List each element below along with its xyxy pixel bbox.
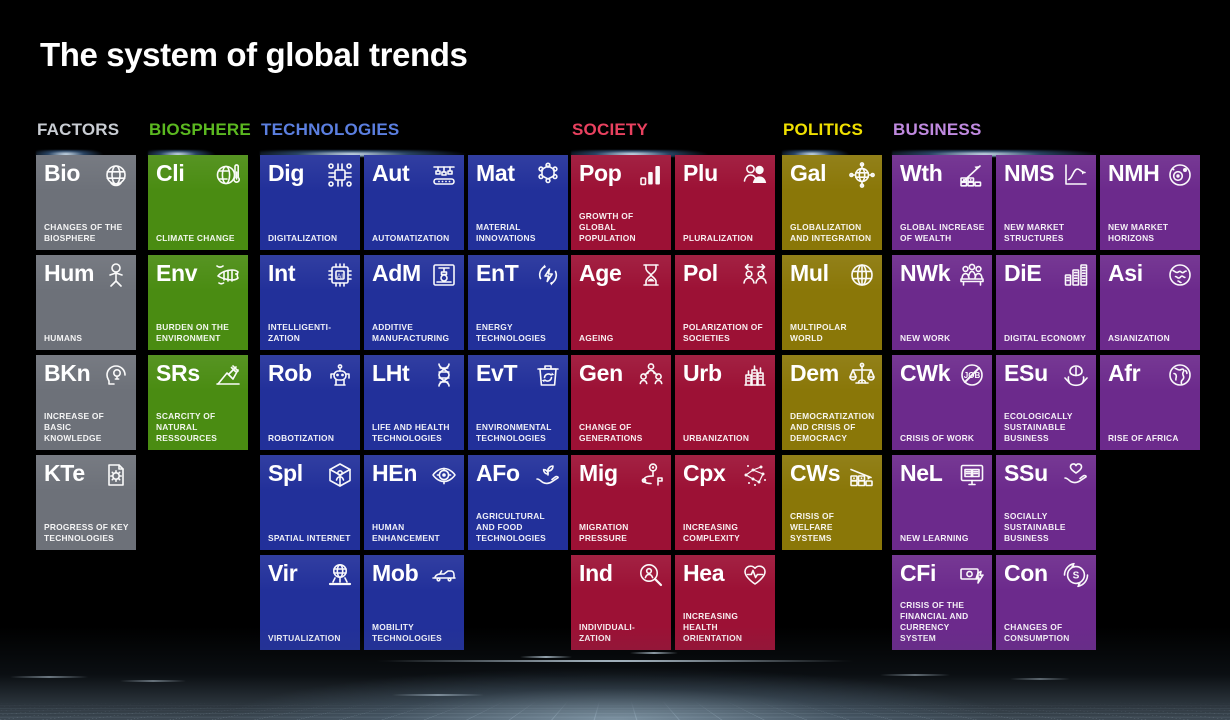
trend-tile-mat[interactable]: MatMATERIAL INNOVATIONS [468, 155, 568, 250]
trend-tile-ent[interactable]: EnTENERGY TECHNOLOGIES [468, 255, 568, 350]
tile-description: AGEING [579, 333, 666, 344]
trend-tile-adm[interactable]: AdMADDITIVE MANUFACTURING [364, 255, 464, 350]
globe-asia-icon [1167, 262, 1193, 288]
column: AutAUTOMATIZATIONAdMADDITIVE MANUFACTURI… [364, 155, 464, 650]
tile-description: ASIANIZATION [1108, 333, 1195, 344]
trend-board: FACTORSBioCHANGES OF THE BIOSPHEREHumHUM… [36, 120, 1196, 660]
trend-tile-hum[interactable]: HumHUMANS [36, 255, 136, 350]
column: DigDIGITALIZATIONIntAIINTELLIGENTI-ZATIO… [260, 155, 360, 650]
column: WthGLOBAL INCREASE OF WEALTHNWkNEW WORKC… [892, 155, 992, 650]
tile-description: CHANGES OF CONSUMPTION [1004, 622, 1091, 644]
globe-icon [849, 262, 875, 288]
tile-description: BURDEN ON THE ENVIRONMENT [156, 322, 243, 344]
declining-money-icon [849, 462, 875, 488]
floor-streak [120, 680, 186, 682]
trend-tile-vir[interactable]: VirVIRTUALIZATION [260, 555, 360, 650]
group-title-politics: POLITICS [783, 120, 863, 140]
tile-description: HUMANS [44, 333, 131, 344]
trend-tile-aut[interactable]: AutAUTOMATIZATION [364, 155, 464, 250]
3d-printer-icon [431, 262, 457, 288]
slide-canvas: The system of global trends FACTORSBioCH… [0, 0, 1230, 720]
trend-tile-cws[interactable]: CWsCRISIS OF WELFARE SYSTEMS [782, 455, 882, 550]
mining-pick-icon [215, 362, 241, 388]
trend-tile-nwk[interactable]: NWkNEW WORK [892, 255, 992, 350]
tile-description: PROGRESS OF KEY TECHNOLOGIES [44, 522, 131, 544]
tile-description: AUTOMATIZATION [372, 233, 459, 244]
trend-tile-nms[interactable]: NMSNEW MARKET STRUCTURES [996, 155, 1096, 250]
globe-orbit-icon [849, 162, 875, 188]
head-bulb-icon [103, 362, 129, 388]
trend-tile-afo[interactable]: AFoAGRICULTURAL AND FOOD TECHNOLOGIES [468, 455, 568, 550]
trend-tile-bio[interactable]: BioCHANGES OF THE BIOSPHERE [36, 155, 136, 250]
trend-tile-nmh[interactable]: NMHNEW MARKET HORIZONS [1100, 155, 1200, 250]
hands-leaf-icon [1063, 362, 1089, 388]
column: GalGLOBALIZATION AND INTEGRATIONMulMULTI… [782, 155, 882, 550]
tile-description: GLOBALIZATION AND INTEGRATION [790, 222, 877, 244]
line-chart-icon [1063, 162, 1089, 188]
tile-description: DIGITAL ECONOMY [1004, 333, 1091, 344]
route-pin-icon [638, 462, 664, 488]
no-job-icon: JOB [959, 362, 985, 388]
tile-description: NEW MARKET STRUCTURES [1004, 222, 1091, 244]
tile-description: SOCIALLY SUSTAINABLE BUSINESS [1004, 511, 1091, 544]
trend-tile-die[interactable]: DiEDIGITAL ECONOMY [996, 255, 1096, 350]
floor-streak [880, 674, 950, 676]
trend-tile-urb[interactable]: UrbURBANIZATION [675, 355, 775, 450]
column: PopGROWTH OF GLOBAL POPULATIONAgeAGEINGG… [571, 155, 671, 650]
tile-description: DIGITALIZATION [268, 233, 355, 244]
city-icon [742, 362, 768, 388]
trend-tile-asi[interactable]: AsiASIANIZATION [1100, 255, 1200, 350]
money-cycle-icon: S [1063, 562, 1089, 588]
tile-description: ENERGY TECHNOLOGIES [476, 322, 563, 344]
tile-description: MULTIPOLAR WORLD [790, 322, 877, 344]
car-icon [431, 562, 457, 588]
hand-heart-icon [1063, 462, 1089, 488]
trend-tile-mul[interactable]: MulMULTIPOLAR WORLD [782, 255, 882, 350]
trend-tile-bkn[interactable]: BKnINCREASE OF BASIC KNOWLEDGE [36, 355, 136, 450]
trend-tile-pol[interactable]: PolPOLARIZATION OF SOCIETIES [675, 255, 775, 350]
trend-tile-kte[interactable]: KTePROGRESS OF KEY TECHNOLOGIES [36, 455, 136, 550]
teamwork-icon [959, 262, 985, 288]
group-columns: DigDIGITALIZATIONIntAIINTELLIGENTI-ZATIO… [260, 155, 568, 650]
tile-description: LIFE AND HEALTH TECHNOLOGIES [372, 422, 459, 444]
trend-tile-hea[interactable]: HeaINCREASING HEALTH ORIENTATION [675, 555, 775, 650]
tile-description: CHANGE OF GENERATIONS [579, 422, 666, 444]
tile-description: SCARCITY OF NATURAL RESSOURCES [156, 411, 243, 444]
person-icon [103, 262, 129, 288]
energy-cycle-icon [535, 262, 561, 288]
column: PluPLURALIZATIONPolPOLARIZATION OF SOCIE… [675, 155, 775, 650]
chip-network-icon [327, 162, 353, 188]
tile-description: NEW MARKET HORIZONS [1108, 222, 1195, 244]
tile-description: INDIVIDUALI-ZATION [579, 622, 666, 644]
trend-tile-spl[interactable]: SplSPATIAL INTERNET [260, 455, 360, 550]
generations-icon [638, 362, 664, 388]
tile-description: AGRICULTURAL AND FOOD TECHNOLOGIES [476, 511, 563, 544]
page-title: The system of global trends [40, 36, 467, 74]
hourglass-icon [638, 262, 664, 288]
tile-description: MIGRATION PRESSURE [579, 522, 666, 544]
group-title-technologies: TECHNOLOGIES [261, 120, 399, 140]
globe-projection-icon [327, 562, 353, 588]
tile-description: CHANGES OF THE BIOSPHERE [44, 222, 131, 244]
trend-tile-wth[interactable]: WthGLOBAL INCREASE OF WEALTH [892, 155, 992, 250]
recycle-bin-icon [535, 362, 561, 388]
bionic-eye-icon [431, 462, 457, 488]
two-people-icon [742, 162, 768, 188]
trend-tile-hen[interactable]: HEnHUMAN ENHANCEMENT [364, 455, 464, 550]
tile-description: CRISIS OF WORK [900, 433, 987, 444]
svg-text:AI: AI [337, 273, 343, 280]
floor-streak [10, 676, 88, 678]
banknote-crisis-icon [959, 562, 985, 588]
tile-description: GLOBAL INCREASE OF WEALTH [900, 222, 987, 244]
document-gear-icon [103, 462, 129, 488]
column: NMHNEW MARKET HORIZONSAsiASIANIZATIONAfr… [1100, 155, 1200, 650]
svg-text:S: S [1073, 571, 1080, 582]
trend-tile-int[interactable]: IntAIINTELLIGENTI-ZATION [260, 255, 360, 350]
sprout-hand-icon [535, 462, 561, 488]
tile-description: INCREASE OF BASIC KNOWLEDGE [44, 411, 131, 444]
trend-tile-cpx[interactable]: CpxINCREASING COMPLEXITY [675, 455, 775, 550]
tile-description: INTELLIGENTI-ZATION [268, 322, 355, 344]
tile-description: GROWTH OF GLOBAL POPULATION [579, 211, 666, 244]
orbit-icon [1167, 162, 1193, 188]
column: NMSNEW MARKET STRUCTURESDiEDIGITAL ECONO… [996, 155, 1096, 650]
network-complexity-icon [742, 462, 768, 488]
tile-description: MOBILITY TECHNOLOGIES [372, 622, 459, 644]
group-title-society: SOCIETY [572, 120, 648, 140]
tile-description: DEMOCRATIZATION AND CRISIS OF DEMOCRACY [790, 411, 877, 444]
bar-chart-icon [638, 162, 664, 188]
trend-tile-dig[interactable]: DigDIGITALIZATION [260, 155, 360, 250]
heart-pulse-icon [742, 562, 768, 588]
conveyor-robot-icon [431, 162, 457, 188]
trend-tile-cli[interactable]: CliCLIMATE CHANGE [148, 155, 248, 250]
group-title-biosphere: BIOSPHERE [149, 120, 251, 140]
tile-description: URBANIZATION [683, 433, 770, 444]
dna-icon [431, 362, 457, 388]
trend-tile-ssu[interactable]: SSuSOCIALLY SUSTAINABLE BUSINESS [996, 455, 1096, 550]
tile-description: NEW WORK [900, 333, 987, 344]
digital-buildings-icon [1063, 262, 1089, 288]
group-columns: GalGLOBALIZATION AND INTEGRATIONMulMULTI… [782, 155, 882, 550]
trend-tile-gen[interactable]: GenCHANGE OF GENERATIONS [571, 355, 671, 450]
trend-tile-nel[interactable]: NeLNEW LEARNING [892, 455, 992, 550]
trend-tile-cfi[interactable]: CFiCRISIS OF THE FINANCIAL AND CURRENCY … [892, 555, 992, 650]
group-title-factors: FACTORS [37, 120, 119, 140]
rising-money-icon [959, 162, 985, 188]
scales-icon [849, 362, 875, 388]
tile-description: SPATIAL INTERNET [268, 533, 355, 544]
svg-text:JOB: JOB [964, 371, 981, 380]
tile-description: INCREASING COMPLEXITY [683, 522, 770, 544]
trend-tile-gal[interactable]: GalGLOBALIZATION AND INTEGRATION [782, 155, 882, 250]
tile-description: PLURALIZATION [683, 233, 770, 244]
trend-tile-mob[interactable]: MobMOBILITY TECHNOLOGIES [364, 555, 464, 650]
trend-tile-rob[interactable]: RobROBOTIZATION [260, 355, 360, 450]
trend-tile-srs[interactable]: SRsSCARCITY OF NATURAL RESSOURCES [148, 355, 248, 450]
group-columns: PopGROWTH OF GLOBAL POPULATIONAgeAGEINGG… [571, 155, 775, 650]
elearning-icon [959, 462, 985, 488]
tile-description: HUMAN ENHANCEMENT [372, 522, 459, 544]
tile-description: CRISIS OF WELFARE SYSTEMS [790, 511, 877, 544]
opposing-people-icon [742, 262, 768, 288]
globe-thermometer-icon [215, 162, 241, 188]
tile-description: MATERIAL INNOVATIONS [476, 222, 563, 244]
tile-description: POLARIZATION OF SOCIETIES [683, 322, 770, 344]
trend-tile-cwk[interactable]: CWkJOBCRISIS OF WORK [892, 355, 992, 450]
floor-streak [1010, 678, 1070, 680]
group-columns: WthGLOBAL INCREASE OF WEALTHNWkNEW WORKC… [892, 155, 1200, 650]
trend-tile-dem[interactable]: DemDEMOCRATIZATION AND CRISIS OF DEMOCRA… [782, 355, 882, 450]
floor-horizon-glow [0, 660, 1230, 662]
trend-tile-lht[interactable]: LHtLIFE AND HEALTH TECHNOLOGIES [364, 355, 464, 450]
cube-user-icon [327, 462, 353, 488]
tile-description: NEW LEARNING [900, 533, 987, 544]
trend-tile-ind[interactable]: IndINDIVIDUALI-ZATION [571, 555, 671, 650]
globe-africa-icon [1167, 362, 1193, 388]
group-title-business: BUSINESS [893, 120, 982, 140]
globe-leaf-icon [103, 162, 129, 188]
tile-description: RISE OF AFRICA [1108, 433, 1195, 444]
tile-description: ENVIRONMENTAL TECHNOLOGIES [476, 422, 563, 444]
trend-tile-mig[interactable]: MigMIGRATION PRESSURE [571, 455, 671, 550]
trend-tile-pop[interactable]: PopGROWTH OF GLOBAL POPULATION [571, 155, 671, 250]
tile-description: VIRTUALIZATION [268, 633, 355, 644]
trend-tile-evt[interactable]: EvTENVIRONMENTAL TECHNOLOGIES [468, 355, 568, 450]
tile-description: ROBOTIZATION [268, 433, 355, 444]
robot-icon [327, 362, 353, 388]
trend-tile-env[interactable]: EnvBURDEN ON THE ENVIRONMENT [148, 255, 248, 350]
group-columns: CliCLIMATE CHANGEEnvBURDEN ON THE ENVIRO… [148, 155, 248, 450]
trend-tile-afr[interactable]: AfrRISE OF AFRICA [1100, 355, 1200, 450]
column: BioCHANGES OF THE BIOSPHEREHumHUMANSBKnI… [36, 155, 136, 550]
magnifier-person-icon [638, 562, 664, 588]
floor-grid [0, 701, 1230, 720]
tile-description: ADDITIVE MANUFACTURING [372, 322, 459, 344]
trend-tile-esu[interactable]: ESuECOLOGICALLY SUSTAINABLE BUSINESS [996, 355, 1096, 450]
group-columns: BioCHANGES OF THE BIOSPHEREHumHUMANSBKnI… [36, 155, 136, 550]
tile-description: CLIMATE CHANGE [156, 233, 243, 244]
tile-description: ECOLOGICALLY SUSTAINABLE BUSINESS [1004, 411, 1091, 444]
molecule-icon [535, 162, 561, 188]
floor-streak [392, 694, 484, 696]
trend-tile-con[interactable]: ConSCHANGES OF CONSUMPTION [996, 555, 1096, 650]
trend-tile-plu[interactable]: PluPLURALIZATION [675, 155, 775, 250]
fish-bone-icon [215, 262, 241, 288]
tile-description: INCREASING HEALTH ORIENTATION [683, 611, 770, 644]
tile-description: CRISIS OF THE FINANCIAL AND CURRENCY SYS… [900, 600, 987, 644]
column: CliCLIMATE CHANGEEnvBURDEN ON THE ENVIRO… [148, 155, 248, 450]
column: MatMATERIAL INNOVATIONSEnTENERGY TECHNOL… [468, 155, 568, 650]
trend-tile-age[interactable]: AgeAGEING [571, 255, 671, 350]
ai-chip-icon: AI [327, 262, 353, 288]
